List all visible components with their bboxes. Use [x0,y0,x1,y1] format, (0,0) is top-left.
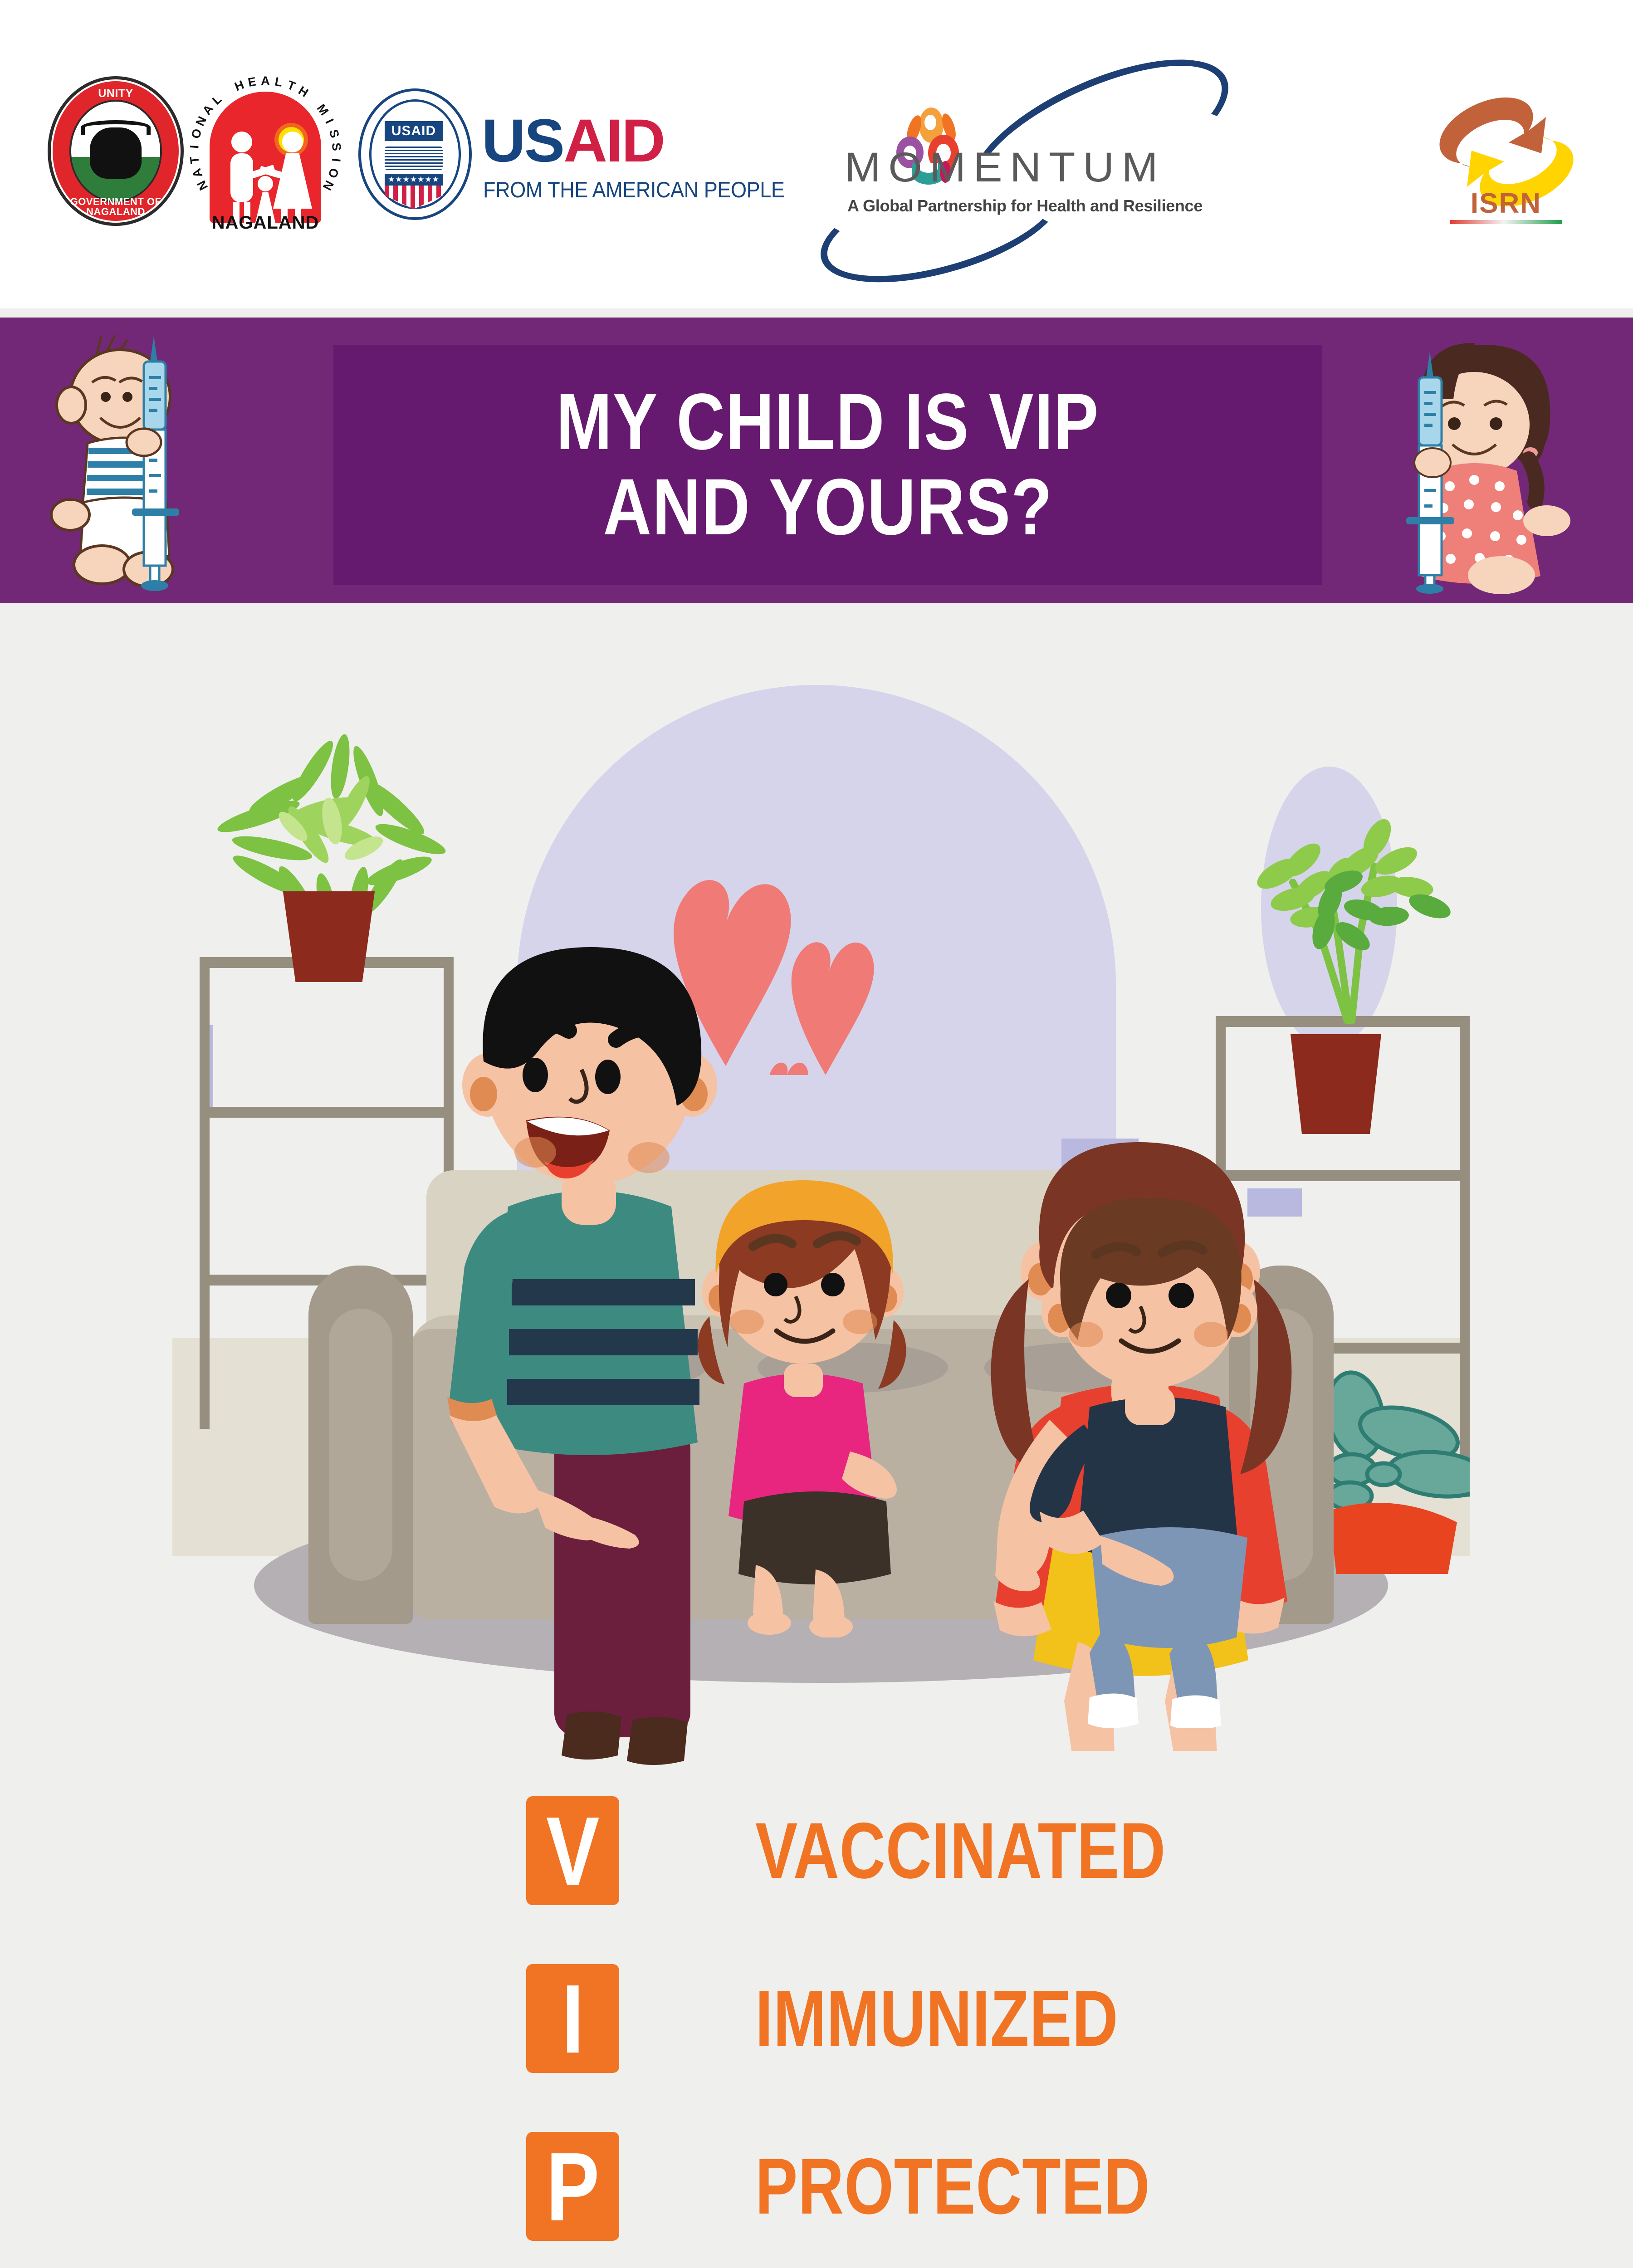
son-character [989,1157,1306,1728]
girl-holding-syringe [1365,327,1583,594]
nhm-arc-letter: S [329,142,343,151]
vip-letter-box-p: P [526,2132,619,2241]
vip-list: V VACCINATED I IMMUNIZED P PROTECTED [526,1783,1524,2268]
vip-label-immunized: IMMUNIZED [755,1973,1118,2064]
vip-letter-box-i: I [526,1964,619,2073]
nhm-arc-letter: N [320,178,337,193]
isrn-wordmark: ISRN [1433,187,1579,220]
isrn-tricolor-bar [1450,220,1562,224]
nhm-arc-letter: M [314,102,331,118]
family-on-sofa-illustration [172,680,1470,1769]
usaid-tagline: FROM THE AMERICAN PEOPLE [483,177,784,203]
nhm-arc-letter: N [193,114,210,128]
mithun-bull-icon [90,127,142,179]
usaid-wordmark: USAID [482,112,664,170]
nhm-arc-letter: L [210,92,225,108]
nhm-arc-letter: I [322,117,336,126]
momentum-logo: MOMENTUM A Global Partnership for Health… [812,93,1211,220]
seal-inner-disc [69,100,162,202]
logo-bar: UNITY GOVERNMENT OF NAGALAND NATIONAL HE… [0,0,1633,308]
vip-letter-box-v: V [526,1796,619,1905]
national-health-mission-logo: NATIONAL HEALTH MISSION NAGALAND [191,68,340,236]
nhm-arc-letter: N [195,178,211,193]
nhm-arc-letter: I [187,145,201,149]
usaid-seal: USAID ★★★★★★★ [358,88,472,220]
nhm-arc-letter: S [326,128,342,139]
vip-label-protected: PROTECTED [755,2141,1150,2232]
poster-root: UNITY GOVERNMENT OF NAGALAND NATIONAL HE… [0,0,1633,2268]
nhm-arc-letter: L [274,74,284,90]
vip-row-immunized: I IMMUNIZED [526,1950,1524,2087]
usaid-seal-chip: USAID [385,121,443,141]
nhm-arc-letter: O [325,166,342,180]
momentum-tagline: A Global Partnership for Health and Resi… [847,196,1203,215]
nhm-state-label: NAGALAND [191,213,340,233]
nhm-arc-letter: E [247,74,257,90]
government-of-nagaland-seal: UNITY GOVERNMENT OF NAGALAND [48,76,184,226]
baby-boy-holding-syringe [43,329,256,592]
nhm-arc-letter: O [189,127,205,140]
vip-letter-p: P [546,2138,600,2235]
usaid-word-aid: AID [563,107,664,175]
momentum-wordmark: MOMENTUM [845,144,1165,191]
nhm-arc-text: NATIONAL HEALTH MISSION [191,68,340,236]
usaid-logo: USAID ★★★★★★★ USAID FROM THE AMERICAN PE… [358,88,735,220]
isrn-logo: ISRN [1433,73,1579,231]
vip-row-protected: P PROTECTED [526,2118,1524,2254]
usaid-word-us: US [482,107,563,175]
title-line-1: MY CHILD IS VIP [556,381,1099,463]
nhm-arc-letter: H [233,78,246,94]
usaid-stars: ★★★★★★★ [385,174,443,186]
momentum-dot-orange-hole [924,115,936,130]
nhm-arc-letter: A [190,167,205,180]
nhm-arc-letter: A [261,74,270,88]
title-line-2: AND YOURS? [603,467,1053,548]
seal-top-text: UNITY [48,87,184,100]
nhm-arc-letter: T [187,156,202,165]
nhm-arc-letter: H [296,83,311,100]
handshake-icon [385,147,443,170]
page-title: MY CHILD IS VIP AND YOURS? [333,352,1322,578]
nhm-arc-letter: A [200,102,217,117]
daughter-character [662,1139,944,1637]
seal-bottom-text: GOVERNMENT OF NAGALAND [48,197,184,217]
vip-letter-i: I [562,1970,584,2068]
vip-row-vaccinated: V VACCINATED [526,1783,1524,1919]
vip-letter-v: V [546,1802,600,1900]
nhm-arc-letter: T [285,78,298,94]
nhm-arc-letter: I [329,157,343,162]
vip-label-vaccinated: VACCINATED [755,1805,1166,1897]
